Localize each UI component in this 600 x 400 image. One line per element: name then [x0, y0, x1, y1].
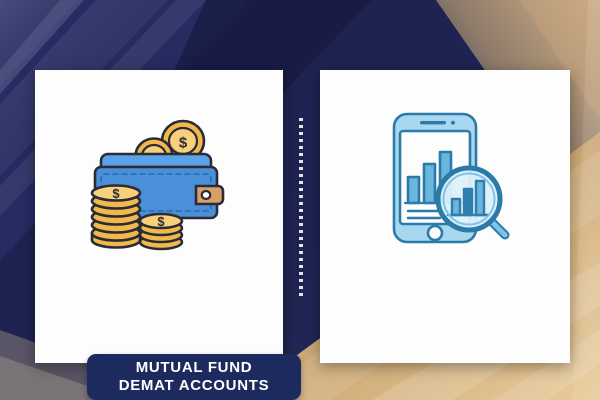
card-mutual-fund[interactable]: $: [35, 70, 283, 363]
wallet-with-coins-icon: $: [84, 104, 234, 254]
badge-mutual-fund[interactable]: MUTUAL FUND DEMAT ACCOUNTS: [87, 354, 301, 400]
svg-text:$: $: [179, 135, 188, 152]
card-simple-investing[interactable]: ESSENTIAL FOR SIMPLE INVESTING: [320, 70, 570, 363]
svg-text:$: $: [157, 214, 165, 229]
dotted-divider: [299, 118, 303, 296]
svg-text:$: $: [112, 186, 120, 201]
smartphone-chart-magnifier-icon: [370, 104, 520, 254]
badge-line-1: MUTUAL FUND: [136, 359, 253, 377]
wallet-illustration-wrap: $: [35, 84, 283, 274]
badge-line-2: DEMAT ACCOUNTS: [119, 377, 270, 395]
phone-chart-illustration-wrap: [320, 84, 570, 274]
